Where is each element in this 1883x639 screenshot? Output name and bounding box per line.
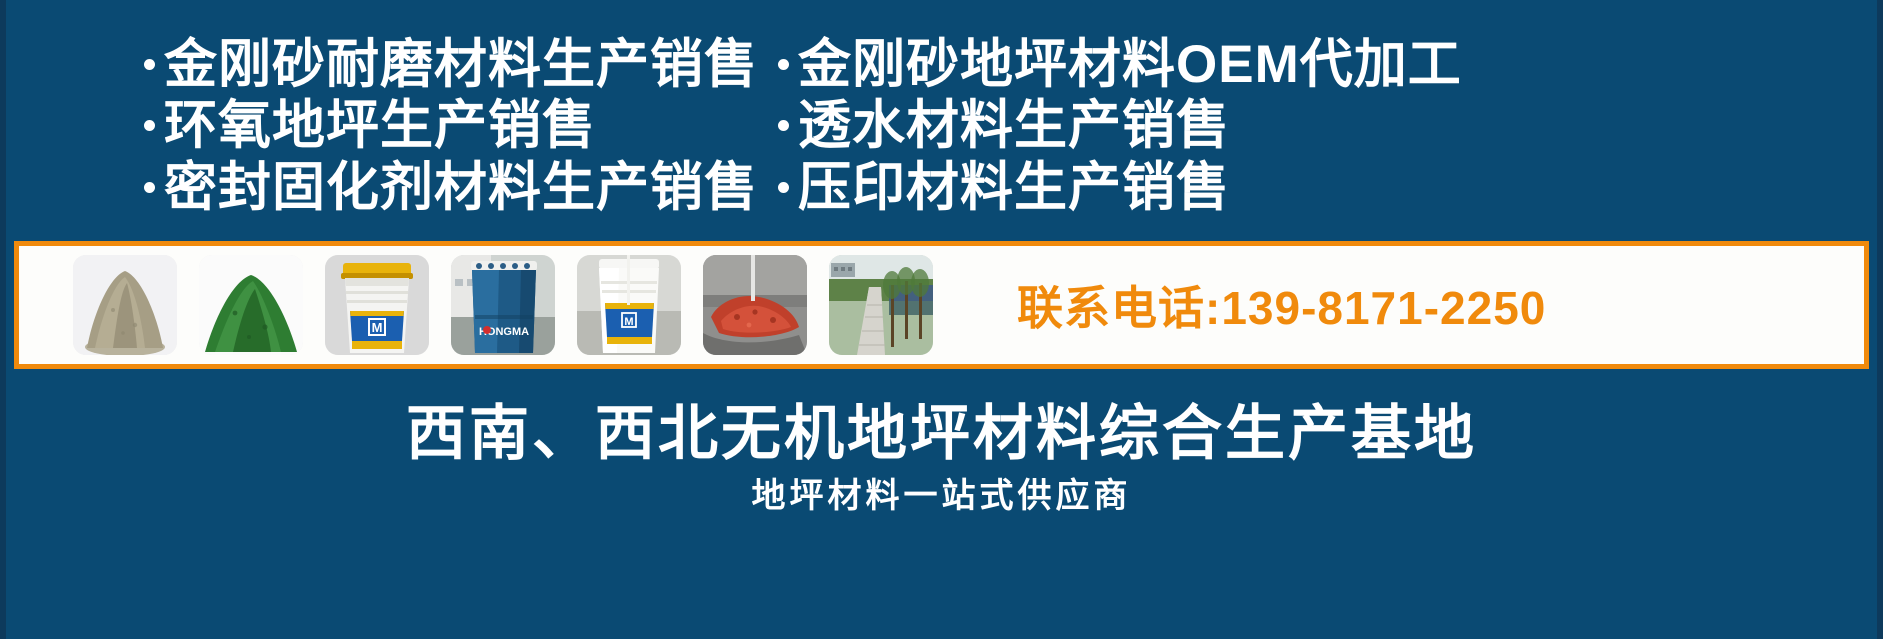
bullet-dot-icon — [778, 59, 789, 70]
product-thumb-green-powder-pile — [199, 255, 303, 355]
product-thumbnail-list: M — [73, 255, 933, 355]
product-thumb-grey-aggregate-powder-pile — [73, 255, 177, 355]
feature-item: 透水材料生产销售 — [778, 95, 1462, 156]
svg-text:M: M — [624, 316, 633, 328]
sealer-bucket-icon: M — [325, 255, 429, 355]
product-thumb-paved-walkway-path — [829, 255, 933, 355]
product-strip: M — [14, 241, 1869, 369]
feature-item: 压印材料生产销售 — [778, 157, 1462, 218]
feature-label: 环氧地坪生产销售 — [164, 95, 596, 156]
product-thumb-red-permeable-aggregate-hand — [703, 255, 807, 355]
feature-lists: 金刚砂耐磨材料生产销售 环氧地坪生产销售 密封固化剂材料生产销售 金刚砂地坪材料… — [6, 34, 1877, 218]
paved-walkway-icon — [829, 255, 933, 355]
grey-aggregate-powder-pile-icon — [73, 255, 177, 355]
main-title: 西南、西北无机地坪材料综合生产基地 — [6, 385, 1877, 472]
svg-text:M: M — [372, 320, 383, 335]
bullet-dot-icon — [144, 59, 155, 70]
hongma-drum-icon: HONGMA — [451, 255, 555, 355]
feature-item: 金刚砂地坪材料OEM代加工 — [778, 34, 1462, 95]
feature-item: 环氧地坪生产销售 — [144, 95, 758, 156]
product-thumb-blue-steel-drum-hongma: HONGMA — [451, 255, 555, 355]
feature-label: 金刚砂地坪材料OEM代加工 — [798, 34, 1462, 95]
product-thumb-white-bucket-epoxy-coating: M — [577, 255, 681, 355]
feature-item: 密封固化剂材料生产销售 — [144, 157, 758, 218]
bullet-dot-icon — [144, 120, 155, 131]
product-thumb-white-yellow-bucket-sealer: M — [325, 255, 429, 355]
feature-label: 压印材料生产销售 — [798, 157, 1230, 218]
promo-banner: 金刚砂耐磨材料生产销售 环氧地坪生产销售 密封固化剂材料生产销售 金刚砂地坪材料… — [0, 0, 1883, 639]
permeable-aggregate-icon — [703, 255, 807, 355]
contact-phone[interactable]: 联系电话:139-8171-2250 — [1017, 272, 1546, 338]
feature-label: 金刚砂耐磨材料生产销售 — [164, 34, 758, 95]
feature-column-right: 金刚砂地坪材料OEM代加工 透水材料生产销售 压印材料生产销售 — [778, 34, 1462, 218]
bullet-dot-icon — [778, 120, 789, 131]
feature-label: 透水材料生产销售 — [798, 95, 1230, 156]
sub-title: 地坪材料一站式供应商 — [6, 468, 1877, 517]
feature-label: 密封固化剂材料生产销售 — [164, 157, 758, 218]
feature-column-left: 金刚砂耐磨材料生产销售 环氧地坪生产销售 密封固化剂材料生产销售 — [144, 34, 758, 218]
feature-item: 金刚砂耐磨材料生产销售 — [144, 34, 758, 95]
epoxy-bucket-icon: M — [577, 255, 681, 355]
bullet-dot-icon — [144, 182, 155, 193]
green-powder-pile-icon — [199, 255, 303, 355]
bullet-dot-icon — [778, 182, 789, 193]
